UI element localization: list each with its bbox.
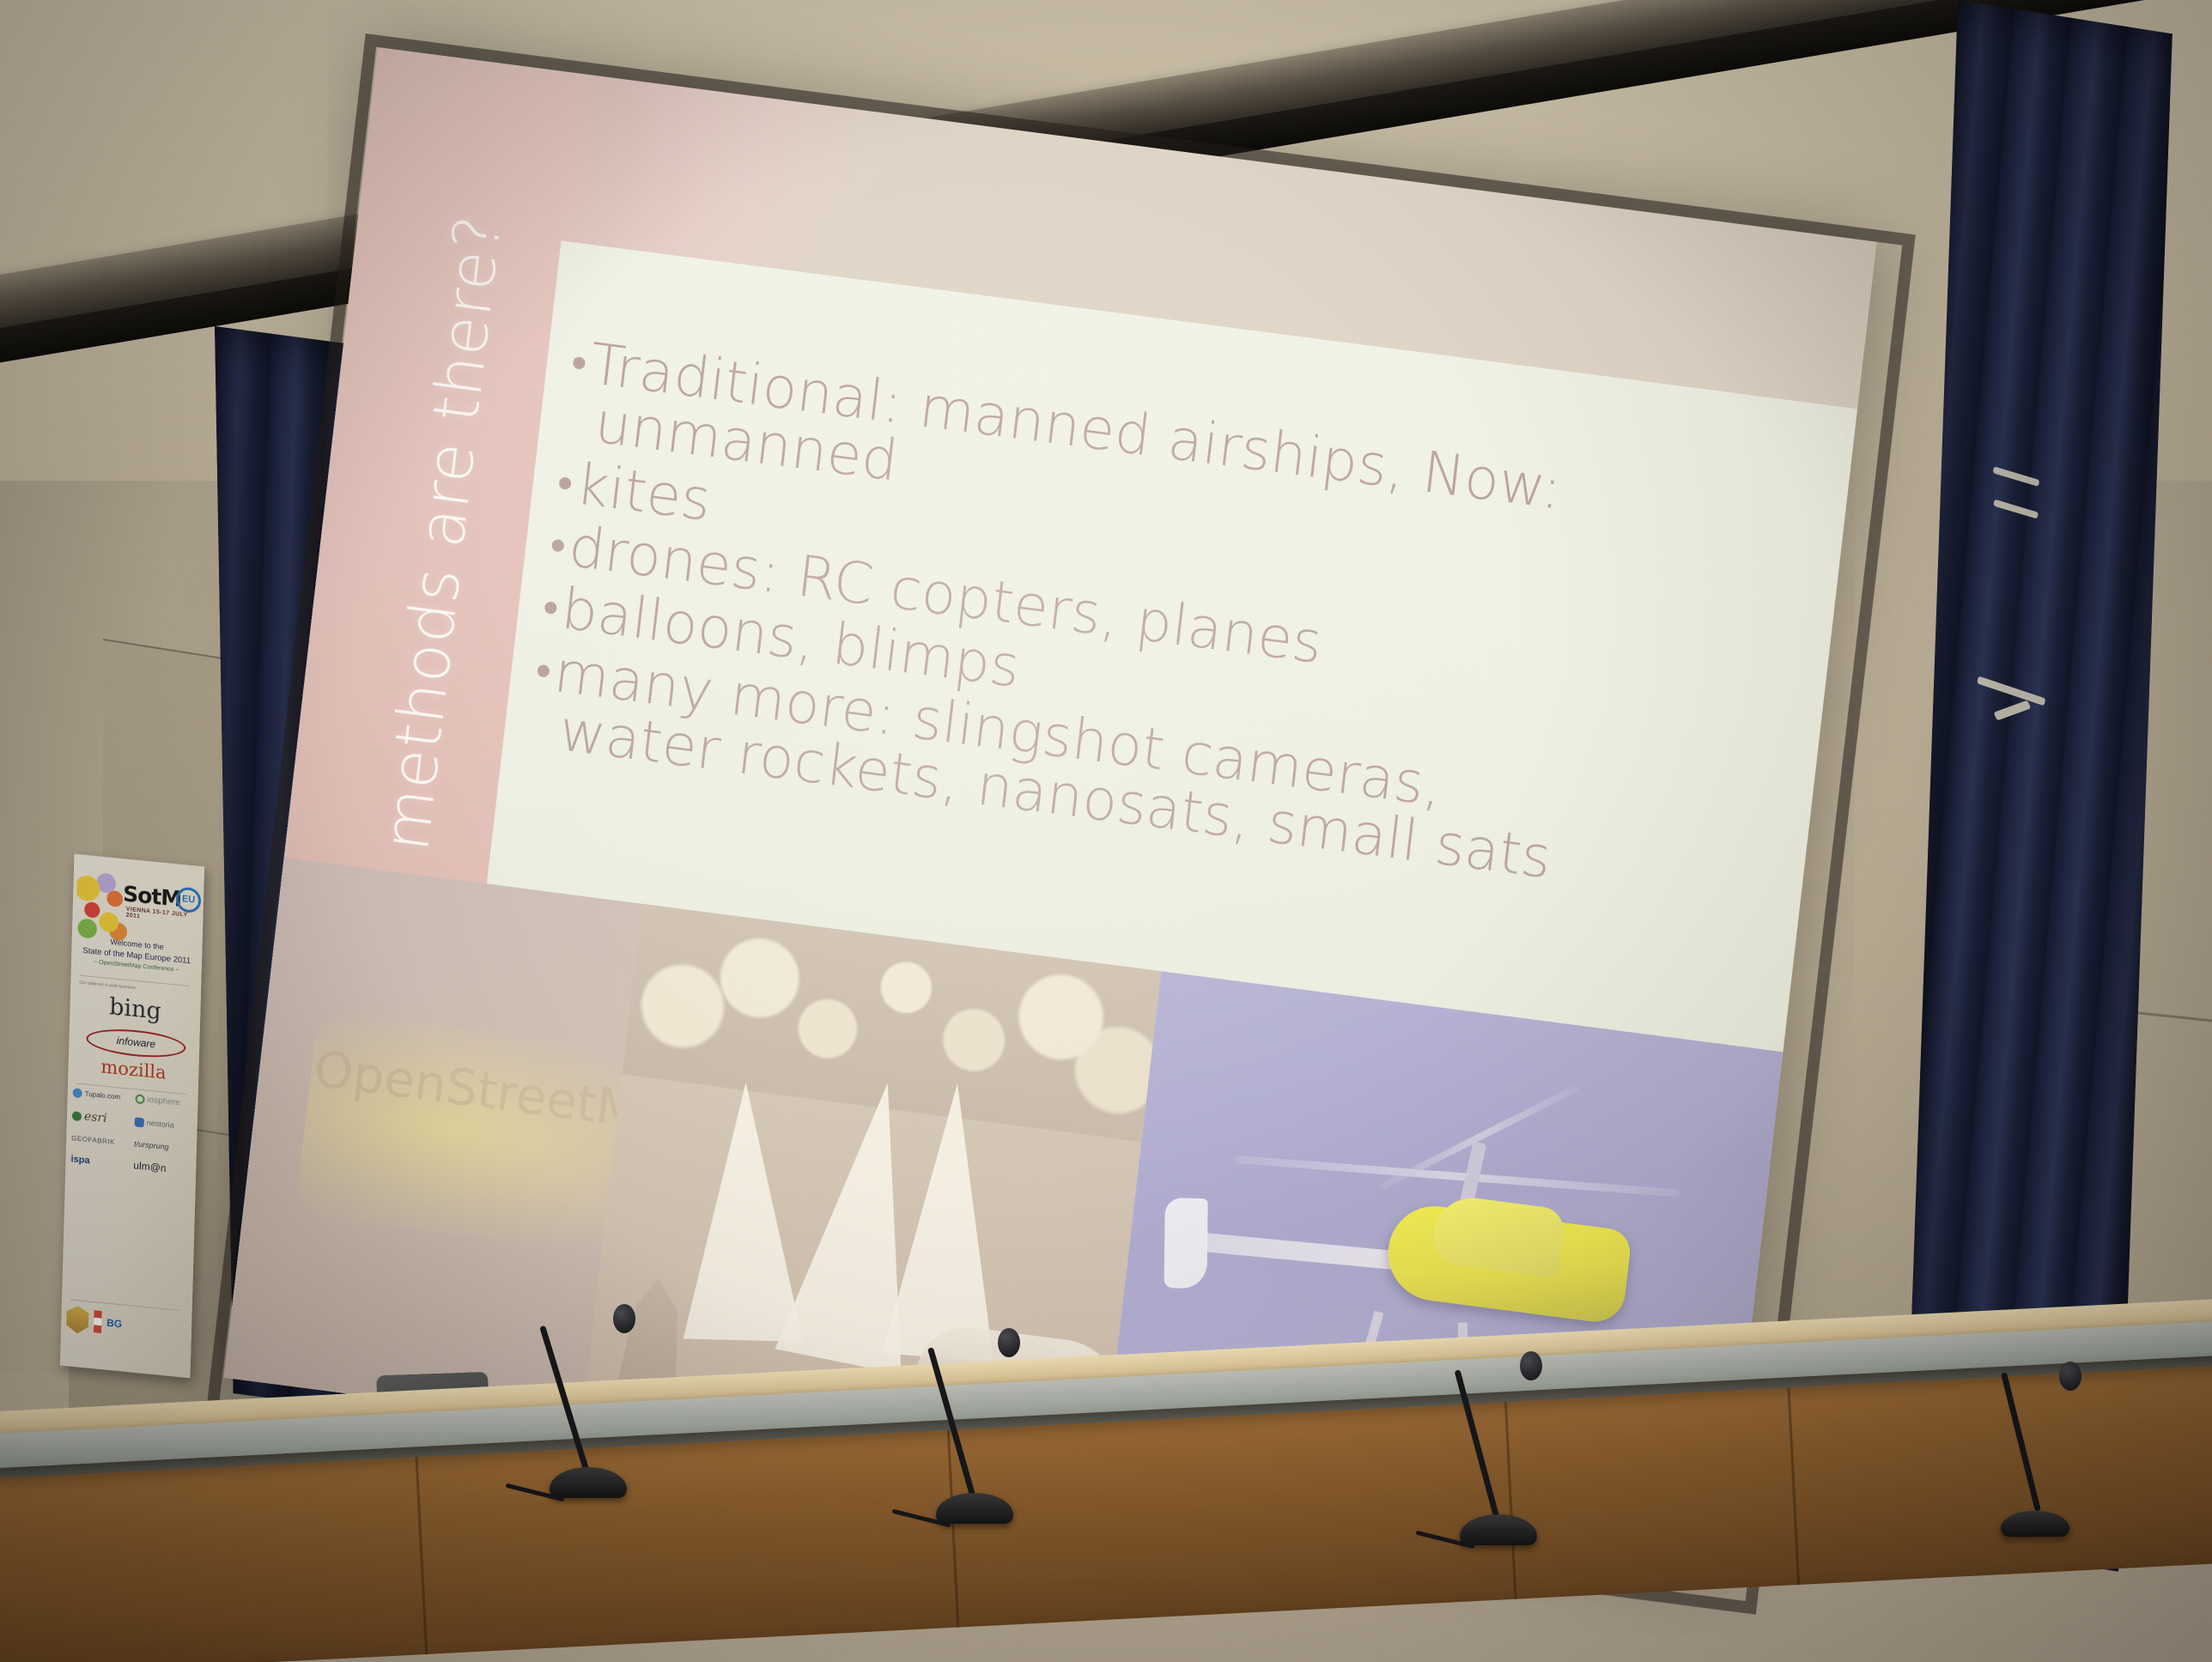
conference-photo: What methods are there? •Traditional: ma… <box>0 0 2212 1662</box>
sponsor-ursprung: t/ursprung <box>134 1139 193 1154</box>
sponsor-logo-mozilla: mozilla <box>68 1053 198 1087</box>
sponsor-label: iosphere <box>147 1095 180 1108</box>
table-front-seam-1 <box>416 1457 428 1654</box>
sponsor-iosphere: iosphere <box>135 1094 194 1109</box>
tupalo-icon <box>73 1088 82 1098</box>
helicopter-main-rotor <box>1235 1156 1680 1198</box>
sponsor-label: Tupalo.com <box>85 1090 121 1101</box>
sponsor-esri: esri <box>72 1108 131 1128</box>
curtain-tie-3 <box>1977 676 2045 706</box>
helicopter-tail-fin <box>1164 1198 1208 1289</box>
esri-icon <box>72 1111 82 1121</box>
poster-sponsor-grid: Tupalo.com iosphere esri nestoria GEOFAB… <box>70 1088 194 1177</box>
microphone-head-icon <box>613 1304 635 1333</box>
curtain-tie-2 <box>1993 500 2039 519</box>
microphone-base <box>550 1467 627 1498</box>
microphone-head-icon <box>1520 1351 1542 1380</box>
sponsor-nestoria: nestoria <box>135 1114 194 1134</box>
microphone-head-icon <box>998 1328 1020 1357</box>
microphone-base <box>1460 1514 1537 1545</box>
sponsor-label: esri <box>84 1110 107 1126</box>
sponsor-label: ulm@n <box>133 1159 167 1174</box>
sponsor-logo-bing: bing <box>70 990 201 1029</box>
microphone-head-icon <box>2059 1362 2081 1391</box>
curtain-tie-knot <box>1993 701 2031 721</box>
poster-sponsor-label: Our platinum & gold sponsors <box>79 980 136 991</box>
sponsor-label: nestoria <box>147 1119 174 1130</box>
microphone-gooseneck <box>1455 1369 1500 1520</box>
sotm-conference-poster: SotM EU VIENNA 15-17 JULY 2011 Welcome t… <box>60 854 204 1379</box>
curtain-tie-1 <box>1993 466 2040 487</box>
microphone-3 <box>1460 1356 1554 1545</box>
table-front-seam-4 <box>1787 1387 1800 1585</box>
sponsor-tupalo: Tupalo.com <box>73 1088 132 1103</box>
kite-shape-1 <box>683 1081 805 1342</box>
sponsor-label: t/ursprung <box>134 1139 169 1151</box>
microphone-1 <box>550 1309 644 1498</box>
sponsor-ispa: ispa <box>70 1153 130 1171</box>
coat-of-arms-icon <box>66 1305 89 1335</box>
microphone-base <box>936 1493 1013 1524</box>
microphone-4 <box>2001 1365 2095 1537</box>
sponsor-label: GEOFABRIK <box>71 1134 115 1146</box>
footer-org-logo: BG <box>106 1317 122 1331</box>
sponsor-ulmon: ulm@n <box>133 1159 192 1177</box>
microphone-gooseneck <box>2001 1372 2041 1512</box>
sponsor-geofabrik: GEOFABRIK <box>71 1133 131 1148</box>
microphone-base <box>2001 1511 2069 1537</box>
helicopter-tail-boom <box>1177 1230 1409 1271</box>
sponsor-label: ispa <box>70 1154 89 1166</box>
poster-footer: BG <box>66 1305 189 1344</box>
nestoria-icon <box>135 1117 144 1127</box>
poster-welcome-block: Welcome to the State of the Map Europe 2… <box>71 933 203 978</box>
microphone-2 <box>936 1335 1030 1524</box>
iosphere-icon <box>135 1094 144 1104</box>
austria-flag-icon <box>94 1310 102 1333</box>
